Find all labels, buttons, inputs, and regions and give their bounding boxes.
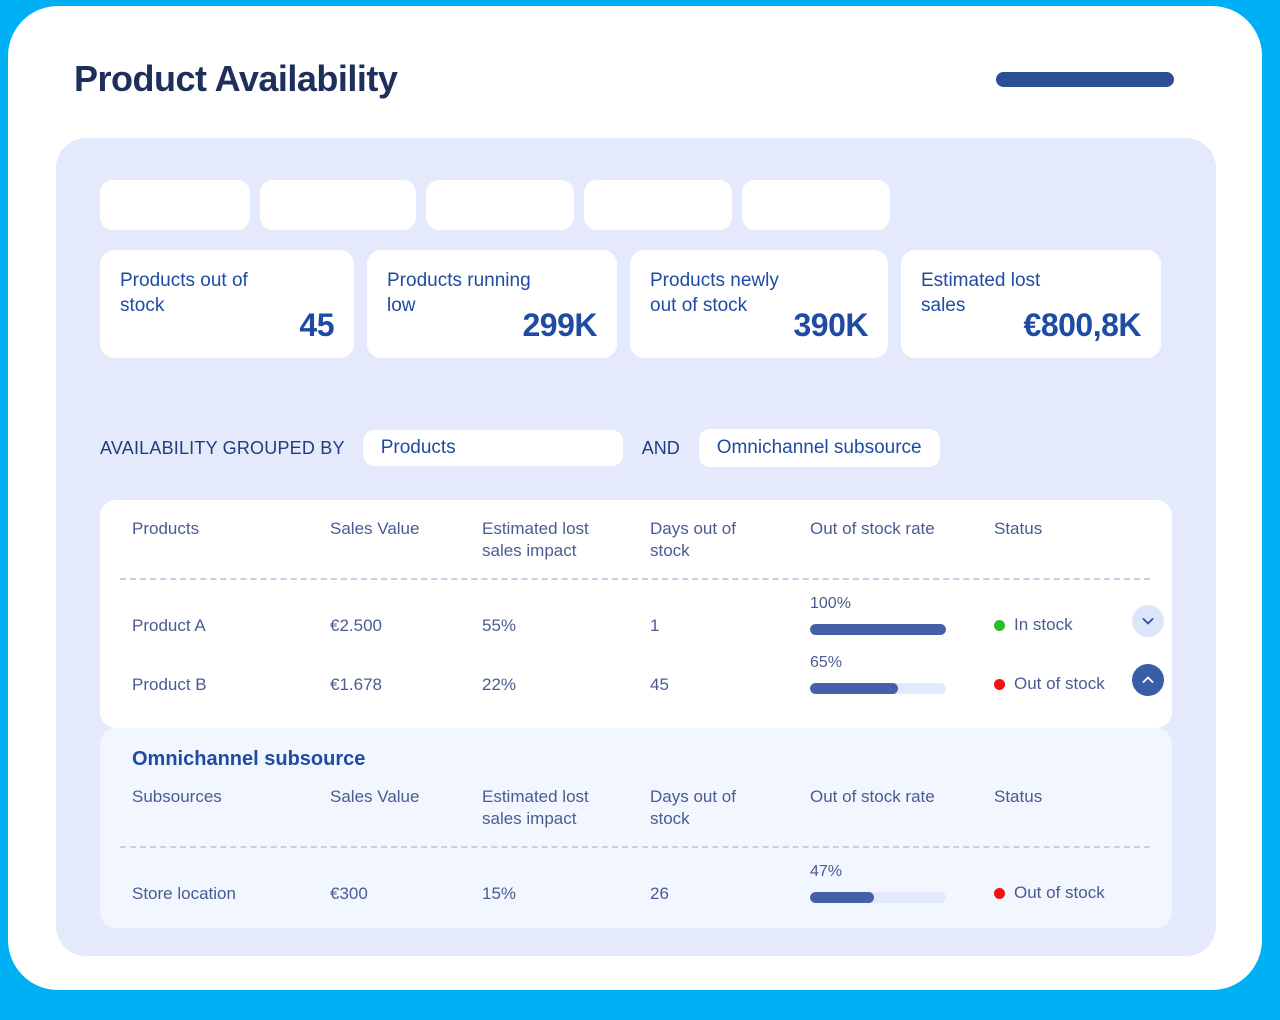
filter-pill-4[interactable] [584,180,732,230]
column-header: Days out of stock [650,518,780,562]
group-by-primary-select[interactable]: Products [363,430,623,466]
availability-table: ProductsSales ValueEstimated lost sales … [100,500,1172,728]
filter-pill-3[interactable] [426,180,574,230]
primary-action-bar[interactable] [996,72,1174,87]
kpi-label: Products out of stock [120,268,270,319]
out-of-stock-rate-bar [810,892,946,903]
column-header: Sales Value [330,786,500,808]
out-of-stock-rate-bar [810,624,946,635]
chevron-up-icon [1140,672,1156,688]
row-days-out-of-stock: 26 [650,883,669,905]
filter-pill-row [100,180,890,230]
status-label: Out of stock [1014,883,1105,903]
grouping-controls: AVAILABILITY GROUPED BY Products AND Omn… [100,426,940,470]
out-of-stock-rate-bar-fill [810,683,898,694]
group-by-secondary-select[interactable]: Omnichannel subsource [699,429,940,467]
row-sales-value: €300 [330,883,368,905]
grouping-conjunction: AND [642,438,680,459]
status-label: In stock [1014,615,1073,635]
out-of-stock-rate-label: 65% [810,654,842,672]
filter-pill-1[interactable] [100,180,250,230]
status-badge: Out of stock [994,674,1105,694]
row-lost-sales-impact: 15% [482,883,516,905]
subsource-header-divider [120,846,1150,848]
column-header: Status [994,518,1164,540]
app-window: Product Availability Products out of sto… [8,6,1262,990]
column-header: Estimated lost sales impact [482,518,612,562]
kpi-card-1: Products out of stock45 [100,250,354,358]
row-collapse-button[interactable] [1132,664,1164,696]
out-of-stock-rate-label: 100% [810,595,851,613]
kpi-value: €800,8K [1024,307,1141,344]
table-row[interactable]: Product B€1.67822%4565%Out of stock [132,674,1142,732]
availability-panel: Products out of stock45Products running … [56,138,1216,956]
column-header: Out of stock rate [810,786,940,808]
out-of-stock-rate-bar-fill [810,892,874,903]
row-lost-sales-impact: 55% [482,615,516,637]
status-dot-icon [994,679,1005,690]
status-badge: Out of stock [994,883,1105,903]
out-of-stock-rate-label: 47% [810,863,842,881]
subsource-section: Omnichannel subsource SubsourcesSales Va… [100,728,1172,928]
column-header: Subsources [132,786,302,808]
table-row[interactable]: Product A€2.50055%1100%In stock [132,615,1142,673]
group-by-secondary-value: Omnichannel subsource [717,437,922,459]
subsource-title: Omnichannel subsource [132,748,365,771]
column-header: Out of stock rate [810,518,940,540]
out-of-stock-rate-bar-fill [810,624,946,635]
status-dot-icon [994,888,1005,899]
row-lost-sales-impact: 22% [482,674,516,696]
filter-pill-2[interactable] [260,180,416,230]
chevron-down-icon [1140,613,1156,629]
column-header: Estimated lost sales impact [482,786,612,830]
status-badge: In stock [994,615,1073,635]
filter-pill-5[interactable] [742,180,890,230]
row-sales-value: €1.678 [330,674,382,696]
status-label: Out of stock [1014,674,1105,694]
row-name: Store location [132,883,236,905]
kpi-value: 299K [523,307,598,344]
kpi-label: Products newly out of stock [650,268,800,319]
kpi-card-row: Products out of stock45Products running … [100,250,1161,358]
kpi-card-3: Products newly out of stock390K [630,250,888,358]
column-header: Products [132,518,302,540]
table-row[interactable]: Store location€30015%2647%Out of stock [132,883,1142,941]
kpi-card-2: Products running low299K [367,250,617,358]
status-dot-icon [994,620,1005,631]
header-divider [120,578,1150,580]
page-title: Product Availability [74,58,397,100]
row-expand-button[interactable] [1132,605,1164,637]
out-of-stock-rate-bar [810,683,946,694]
group-by-primary-value: Products [381,437,456,459]
row-days-out-of-stock: 45 [650,674,669,696]
row-sales-value: €2.500 [330,615,382,637]
column-header: Sales Value [330,518,500,540]
column-header: Days out of stock [650,786,780,830]
grouping-label: AVAILABILITY GROUPED BY [100,438,345,459]
column-header: Status [994,786,1164,808]
kpi-value: 45 [299,307,334,344]
kpi-card-4: Estimated lost sales€800,8K [901,250,1161,358]
row-name: Product B [132,674,207,696]
row-name: Product A [132,615,206,637]
row-days-out-of-stock: 1 [650,615,659,637]
kpi-label: Products running low [387,268,537,319]
app-frame: Product Availability Products out of sto… [0,0,1280,1020]
kpi-value: 390K [794,307,869,344]
